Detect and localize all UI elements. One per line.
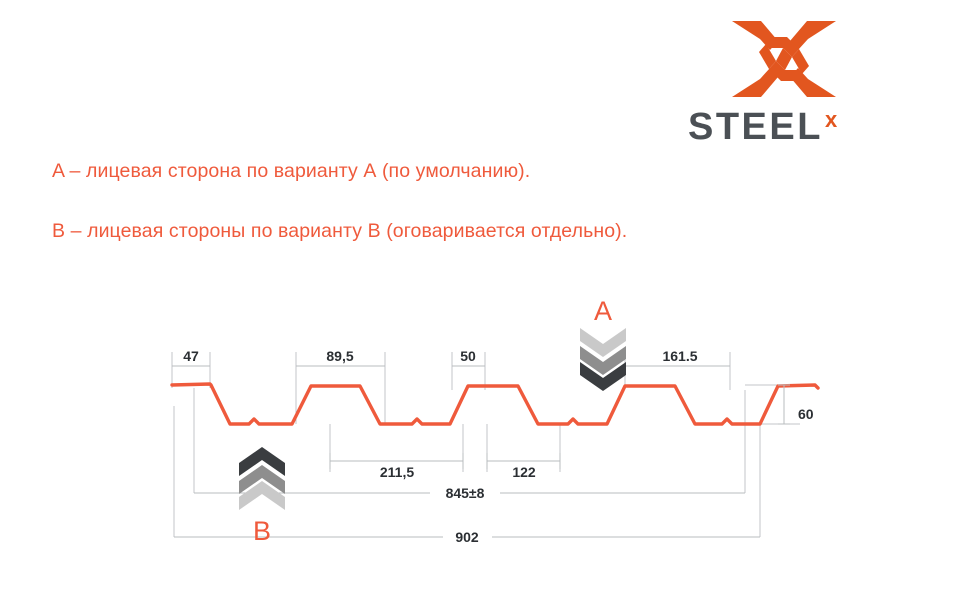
marker-a-chevrons-down-icon	[580, 328, 626, 391]
face-marker-a: A	[580, 296, 626, 391]
dim-label-902: 902	[455, 529, 479, 545]
marker-b-label: B	[253, 516, 271, 546]
marker-a-label: A	[594, 296, 612, 326]
dim-label-122: 122	[512, 464, 536, 480]
dim-label-89-5: 89,5	[326, 348, 353, 364]
dim-label-50: 50	[460, 348, 476, 364]
dim-label-845: 845±8	[446, 485, 485, 501]
dimension-labels: 47 89,5 50 161.5 211,5 122 845±8 902 60	[183, 348, 814, 545]
dim-label-60: 60	[798, 406, 814, 422]
sheet-profile-outline	[172, 384, 818, 424]
dimension-extension-lines	[172, 352, 800, 537]
dim-label-47: 47	[183, 348, 199, 364]
dim-label-161-5: 161.5	[662, 348, 697, 364]
height-dimension-60	[778, 385, 790, 424]
face-marker-b: B	[239, 447, 285, 546]
profile-technical-drawing: 47 89,5 50 161.5 211,5 122 845±8 902 60 …	[0, 0, 970, 597]
marker-b-chevrons-up-icon	[239, 447, 285, 510]
dim-label-211-5: 211,5	[380, 464, 414, 480]
